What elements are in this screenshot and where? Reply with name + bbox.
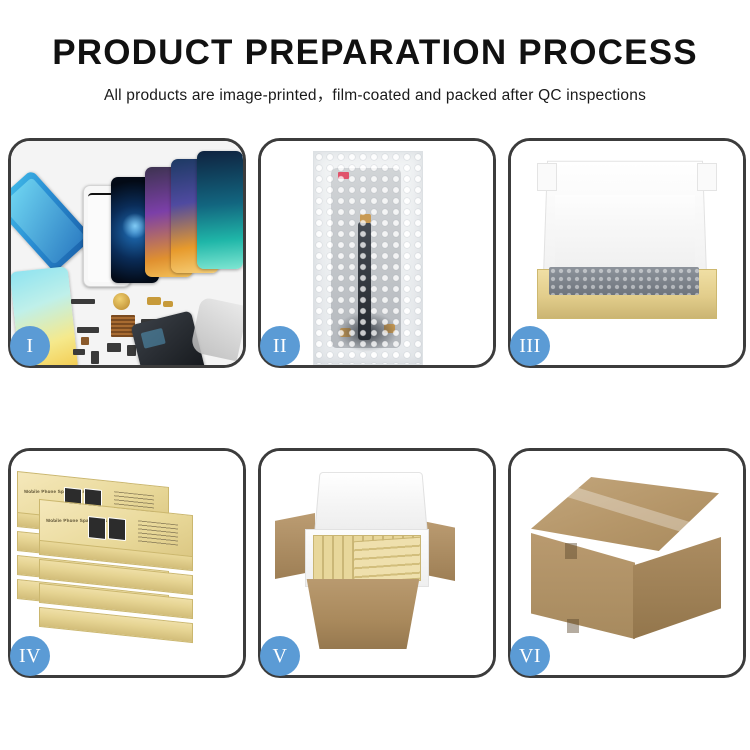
step-badge-4: IV bbox=[10, 636, 50, 676]
step-6-photo bbox=[511, 451, 743, 675]
step-5-photo bbox=[261, 451, 493, 675]
bubble-wrap-bag bbox=[313, 151, 423, 365]
step-badge-5: V bbox=[260, 636, 300, 676]
process-step-panel-2[interactable]: II bbox=[258, 138, 496, 368]
step-1-photo bbox=[11, 141, 243, 365]
page-subtitle: All products are image-printed，film-coat… bbox=[0, 83, 750, 105]
carton-body bbox=[299, 579, 427, 649]
step-badge-3: III bbox=[510, 326, 550, 366]
process-steps-grid: I II III bbox=[8, 138, 742, 678]
process-step-panel-3[interactable]: III bbox=[508, 138, 746, 368]
page-title: PRODUCT PREPARATION PROCESS bbox=[0, 34, 750, 73]
process-step-panel-6[interactable]: VI bbox=[508, 448, 746, 678]
phone-screen-teal bbox=[197, 151, 243, 269]
step-badge-6: VI bbox=[510, 636, 550, 676]
step-badge-2: II bbox=[260, 326, 300, 366]
process-step-panel-4[interactable]: Mobile Phone Spare Parts Mobile Phone Sp… bbox=[8, 448, 246, 678]
step-4-photo: Mobile Phone Spare Parts Mobile Phone Sp… bbox=[11, 451, 243, 675]
connector-cluster bbox=[336, 312, 398, 352]
step-badge-1: I bbox=[10, 326, 50, 366]
qc-sticker bbox=[338, 172, 349, 179]
page-header: PRODUCT PREPARATION PROCESS All products… bbox=[0, 0, 750, 105]
bubble-wrapped-contents bbox=[549, 267, 699, 295]
gold-boxes-second-row bbox=[353, 537, 421, 584]
step-2-photo bbox=[261, 141, 493, 365]
step-3-photo bbox=[511, 141, 743, 365]
foam-sheet bbox=[555, 195, 695, 267]
process-step-panel-1[interactable]: I bbox=[8, 138, 246, 368]
foam-lid bbox=[314, 472, 428, 533]
process-step-panel-5[interactable]: V bbox=[258, 448, 496, 678]
